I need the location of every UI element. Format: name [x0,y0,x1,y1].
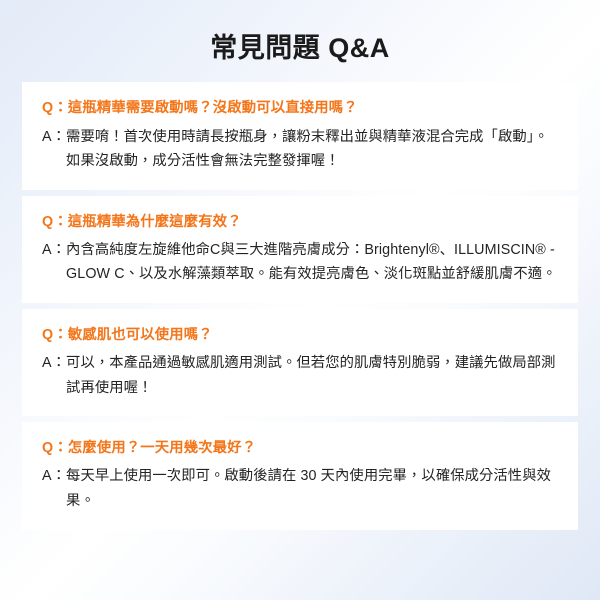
faq-card: Q： 這瓶精華需要啟動嗎？沒啟動可以直接用嗎？ A： 需要唷！首次使用時請長按瓶… [22,82,578,189]
answer-text: 可以，本產品通過敏感肌適用測試。但若您的肌膚特別脆弱，建議先做局部測試再使用喔！ [66,351,558,400]
faq-question: Q： 敏感肌也可以使用嗎？ [42,324,558,346]
question-marker: Q： [42,97,68,119]
faq-card: Q： 怎麼使用？一天用幾次最好？ A： 每天早上使用一次即可。啟動後請在 30 … [22,422,578,529]
faq-card: Q： 敏感肌也可以使用嗎？ A： 可以，本產品通過敏感肌適用測試。但若您的肌膚特… [22,309,578,416]
faq-list: Q： 這瓶精華需要啟動嗎？沒啟動可以直接用嗎？ A： 需要唷！首次使用時請長按瓶… [22,82,578,529]
question-text: 這瓶精華需要啟動嗎？沒啟動可以直接用嗎？ [68,97,558,119]
faq-question: Q： 這瓶精華需要啟動嗎？沒啟動可以直接用嗎？ [42,97,558,119]
answer-marker: A： [42,351,66,376]
question-text: 敏感肌也可以使用嗎？ [68,324,558,346]
page-title: 常見問題 Q&A [0,0,600,82]
faq-page: 常見問題 Q&A Q： 這瓶精華需要啟動嗎？沒啟動可以直接用嗎？ A： 需要唷！… [0,0,600,600]
answer-marker: A： [42,238,66,263]
question-marker: Q： [42,324,68,346]
question-marker: Q： [42,437,68,459]
question-marker: Q： [42,211,68,233]
faq-answer: A： 可以，本產品通過敏感肌適用測試。但若您的肌膚特別脆弱，建議先做局部測試再使… [42,351,558,400]
faq-answer: A： 需要唷！首次使用時請長按瓶身，讓粉末釋出並與精華液混合完成「啟動」。如果沒… [42,125,558,174]
faq-answer: A： 內含高純度左旋維他命C與三大進階亮膚成分：Brightenyl®、ILLU… [42,238,558,287]
faq-answer: A： 每天早上使用一次即可。啟動後請在 30 天內使用完畢，以確保成分活性與效果… [42,464,558,513]
question-text: 怎麼使用？一天用幾次最好？ [68,437,558,459]
faq-question: Q： 這瓶精華為什麼這麼有效？ [42,211,558,233]
answer-marker: A： [42,464,66,489]
faq-question: Q： 怎麼使用？一天用幾次最好？ [42,437,558,459]
answer-text: 內含高純度左旋維他命C與三大進階亮膚成分：Brightenyl®、ILLUMIS… [66,238,558,287]
faq-card: Q： 這瓶精華為什麼這麼有效？ A： 內含高純度左旋維他命C與三大進階亮膚成分：… [22,196,578,303]
answer-marker: A： [42,125,66,150]
question-text: 這瓶精華為什麼這麼有效？ [68,211,558,233]
answer-text: 每天早上使用一次即可。啟動後請在 30 天內使用完畢，以確保成分活性與效果。 [66,464,558,513]
answer-text: 需要唷！首次使用時請長按瓶身，讓粉末釋出並與精華液混合完成「啟動」。如果沒啟動，… [66,125,558,174]
